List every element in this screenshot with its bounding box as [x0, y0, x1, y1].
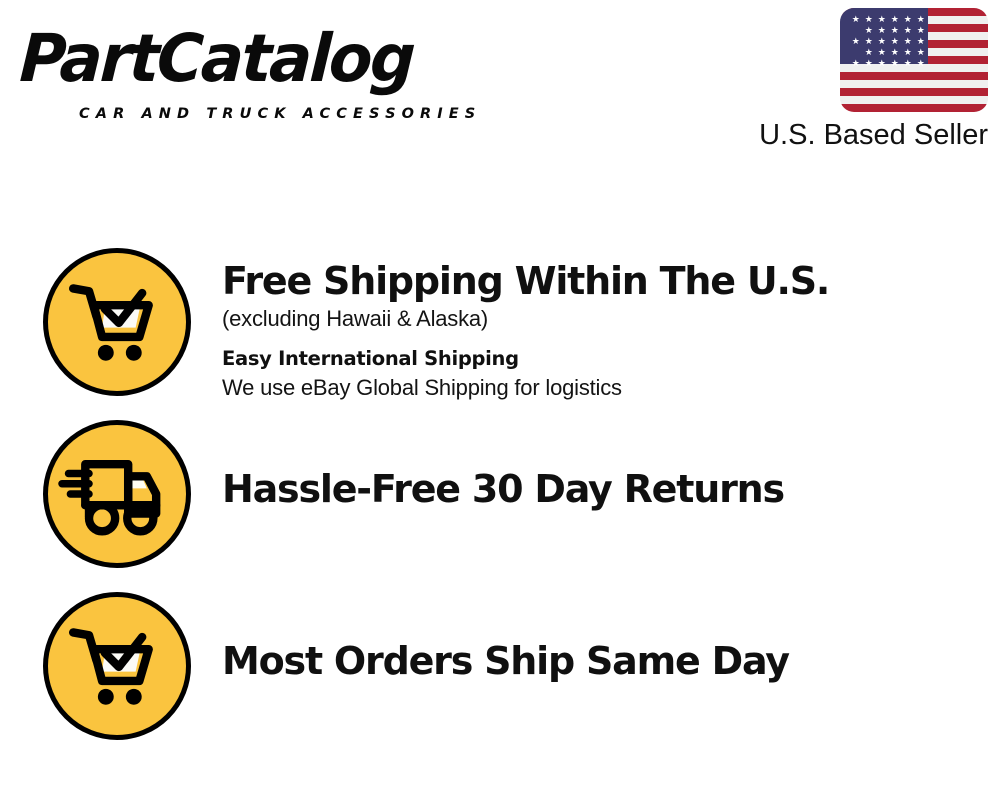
us-based-seller-badge: ★★★★★★ ★★★★★ ★★★★★★ ★★★★★ ★★★★★★ U.S. Ba… — [708, 8, 988, 152]
us-flag-icon: ★★★★★★ ★★★★★ ★★★★★★ ★★★★★ ★★★★★★ — [840, 8, 988, 112]
shopping-cart-check-icon — [43, 248, 191, 396]
feature-text-block: Hassle-Free 30 Day Returns — [222, 466, 982, 512]
brand-logo: PartCatalog CAR AND TRUCK ACCESSORIES — [22, 20, 492, 120]
feature-text-block: Free Shipping Within The U.S. (excluding… — [222, 258, 982, 402]
feature-headline: Free Shipping Within The U.S. — [222, 258, 982, 304]
feature-text-block: Most Orders Ship Same Day — [222, 638, 982, 684]
feature-headline: Most Orders Ship Same Day — [222, 638, 982, 684]
brand-tagline: CAR AND TRUCK ACCESSORIES — [79, 106, 481, 122]
delivery-truck-icon — [43, 420, 191, 568]
us-based-seller-label: U.S. Based Seller — [708, 118, 988, 152]
feature-sub-heading: Easy International Shipping — [222, 345, 982, 373]
brand-wordmark: PartCatalog — [18, 20, 415, 98]
feature-subline: (excluding Hawaii & Alaska) — [222, 304, 982, 333]
flag-stars: ★★★★★★ ★★★★★ ★★★★★★ ★★★★★ ★★★★★★ — [840, 8, 928, 64]
feature-headline: Hassle-Free 30 Day Returns — [222, 466, 982, 512]
shopping-cart-check-icon — [43, 592, 191, 740]
feature-sub-detail: We use eBay Global Shipping for logistic… — [222, 373, 982, 402]
